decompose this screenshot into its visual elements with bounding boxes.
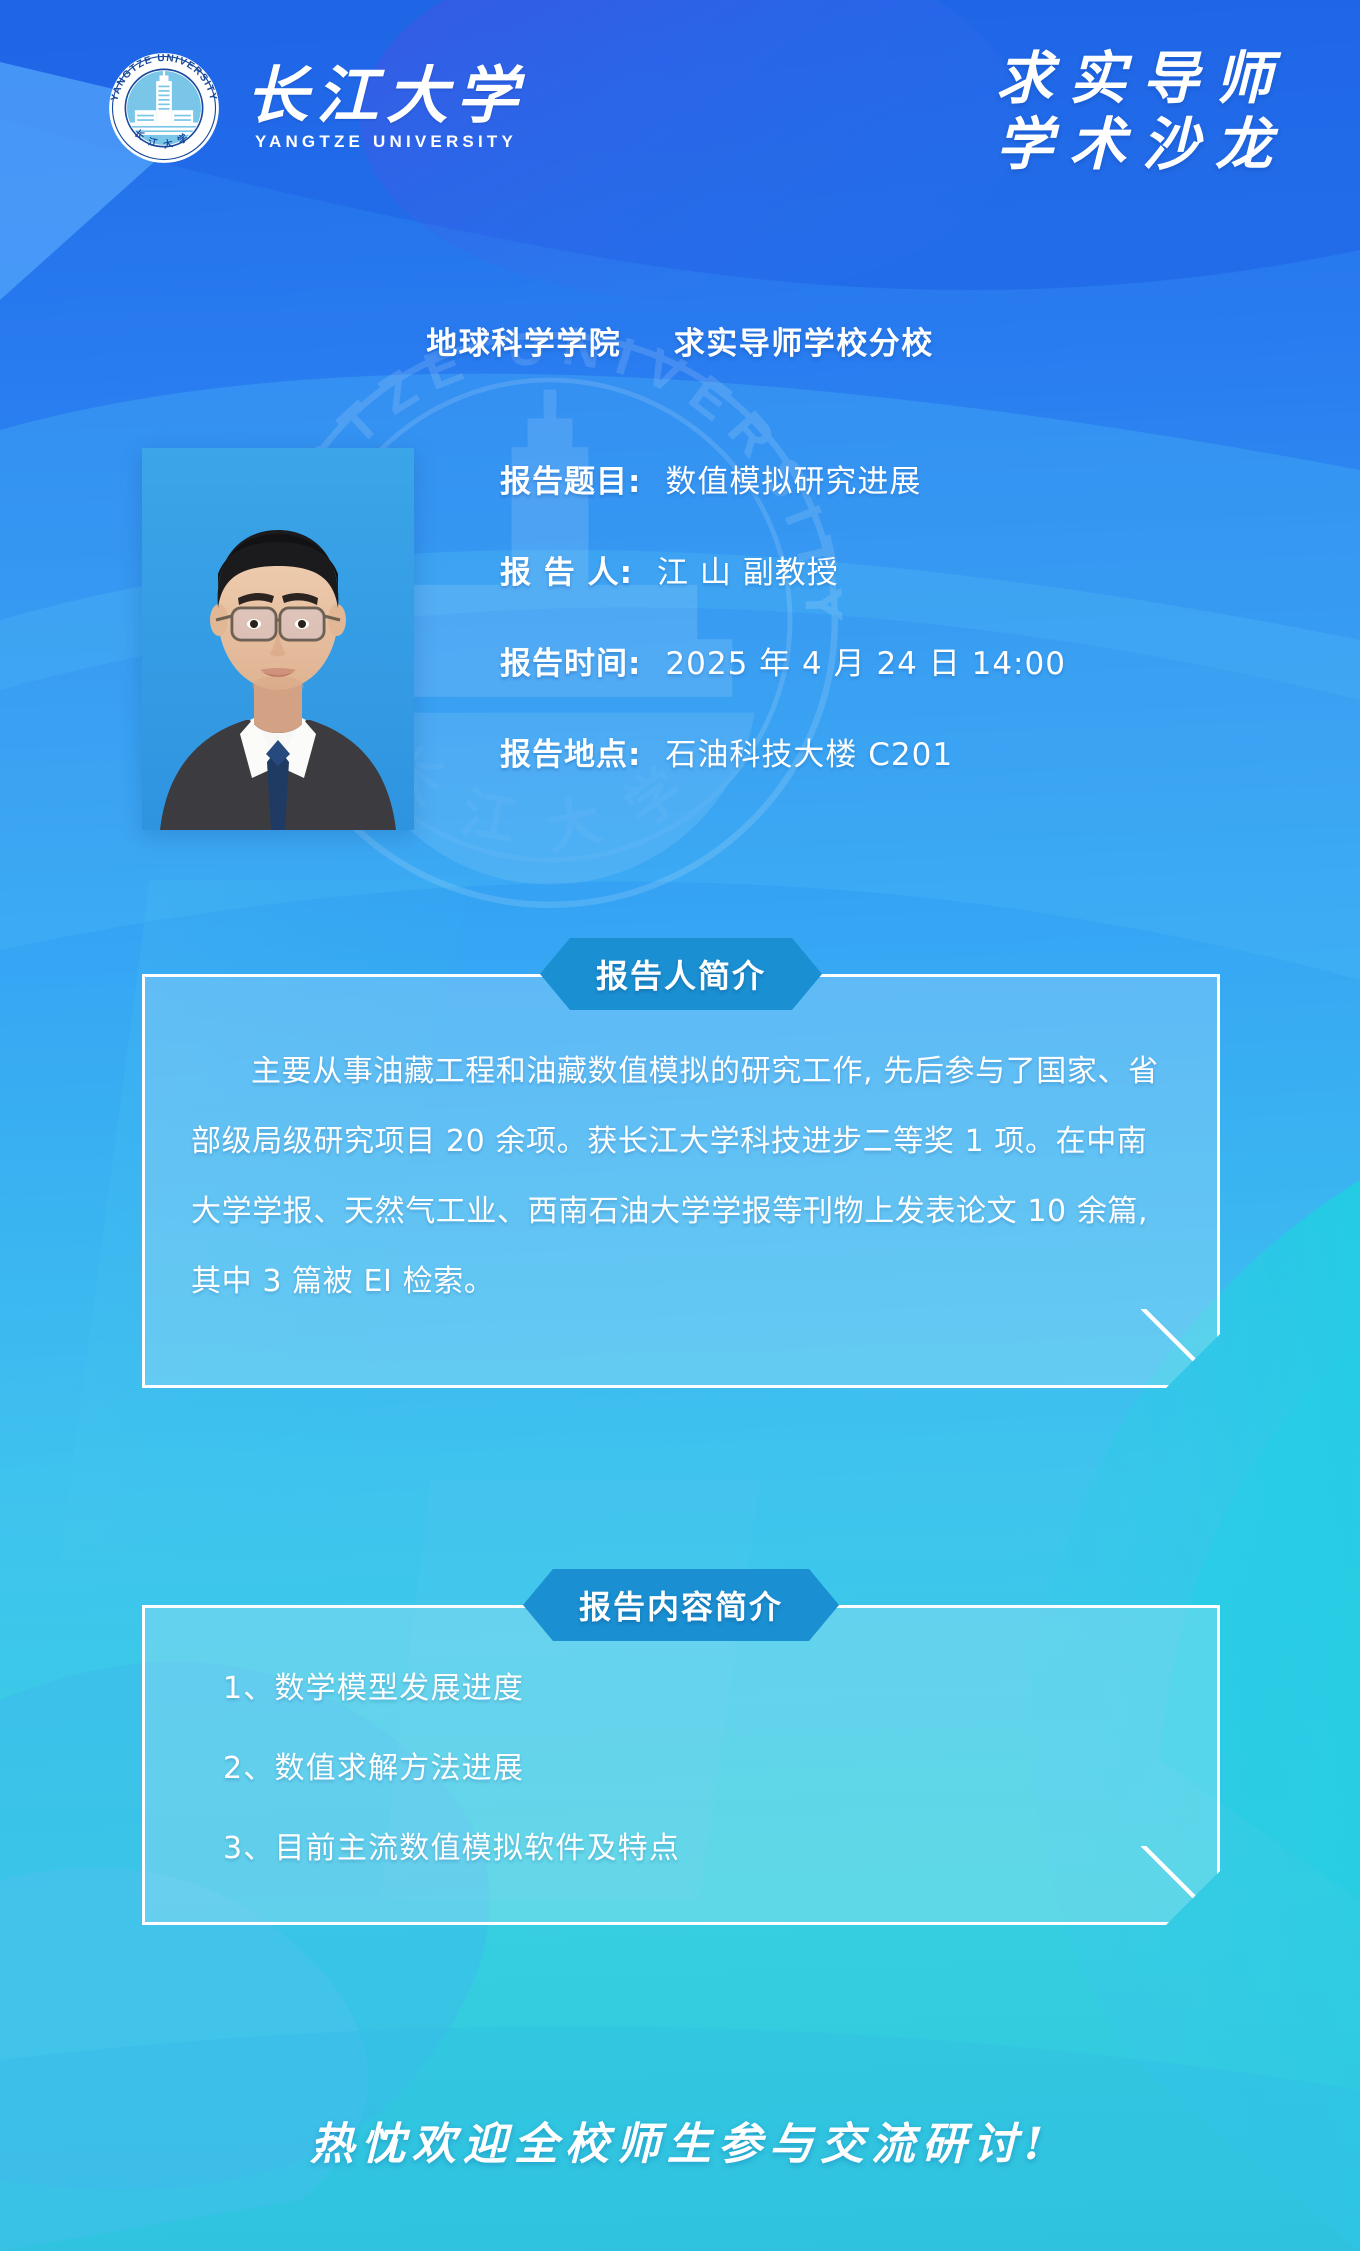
info-row-time: 报告时间: 2025 年 4 月 24 日 14:00 [500,638,1300,683]
university-name: 长江大学 YANGTZE UNIVERSITY [246,64,526,152]
subtitle-department: 地球科学学院 [426,326,621,362]
speaker-bio-box: 主要从事油藏工程和油藏数值模拟的研究工作, 先后参与了国家、省部级局级研究项目 … [142,974,1220,1388]
info-label-title: 报告题目: [500,456,641,501]
speaker-bio-text: 主要从事油藏工程和油藏数值模拟的研究工作, 先后参与了国家、省部级局级研究项目 … [191,1037,1177,1317]
lecture-content-list: 1、数学模型发展进度 2、数值求解方法进展 3、目前主流数值模拟软件及特点 [223,1674,1177,1864]
speaker-bio-heading: 报告人简介 [540,938,822,1010]
university-name-cn: 长江大学 [246,64,526,127]
brand-line-1: 求实导师 [980,46,1288,112]
university-logo: YANGTZE UNIVERSITY 长江大学 长江大学 YANGTZE UNI… [108,52,526,164]
info-value-location: 石油科技大楼 C201 [665,729,953,774]
content-item-2: 2、数值求解方法进展 [223,1754,1177,1784]
content-item-3: 3、目前主流数值模拟软件及特点 [223,1834,1177,1864]
info-row-location: 报告地点: 石油科技大楼 C201 [500,729,1300,774]
lecture-content-box: 1、数学模型发展进度 2、数值求解方法进展 3、目前主流数值模拟软件及特点 [142,1605,1220,1925]
event-brand-calligraphy: 求实导师 学术沙龙 [980,46,1288,178]
poster-subtitle: 地球科学学院 求实导师学校分校 [0,318,1360,363]
info-label-speaker: 报 告 人: [500,547,633,592]
info-label-location: 报告地点: [500,729,641,774]
lecture-content-panel: 1、数学模型发展进度 2、数值求解方法进展 3、目前主流数值模拟软件及特点 报告… [142,1605,1220,1925]
info-label-time: 报告时间: [500,638,641,683]
poster-header: YANGTZE UNIVERSITY 长江大学 长江大学 YANGTZE UNI… [0,0,1360,300]
university-seal-icon: YANGTZE UNIVERSITY 长江大学 [108,52,220,164]
lecture-content-heading: 报告内容简介 [523,1569,839,1641]
info-row-speaker: 报 告 人: 江 山 副教授 [500,547,1300,592]
speaker-bio-panel: 主要从事油藏工程和油藏数值模拟的研究工作, 先后参与了国家、省部级局级研究项目 … [142,974,1220,1388]
info-value-time: 2025 年 4 月 24 日 14:00 [665,638,1066,683]
speaker-portrait [142,448,414,830]
university-name-en: YANGTZE UNIVERSITY [255,132,517,152]
lecture-info-list: 报告题目: 数值模拟研究进展 报 告 人: 江 山 副教授 报告时间: 2025… [500,456,1300,774]
info-value-speaker: 江 山 副教授 [657,547,839,592]
content-item-1: 1、数学模型发展进度 [223,1674,1177,1704]
poster-footer: 热忱欢迎全校师生参与交流研讨! [0,2108,1360,2172]
subtitle-program: 求实导师学校分校 [674,326,934,362]
info-value-title: 数值模拟研究进展 [665,456,921,501]
brand-line-2: 学术沙龙 [980,112,1288,178]
info-row-title: 报告题目: 数值模拟研究进展 [500,456,1300,501]
poster-root: YANGTZE UNIVERSITY 长江大学 [0,0,1360,2251]
